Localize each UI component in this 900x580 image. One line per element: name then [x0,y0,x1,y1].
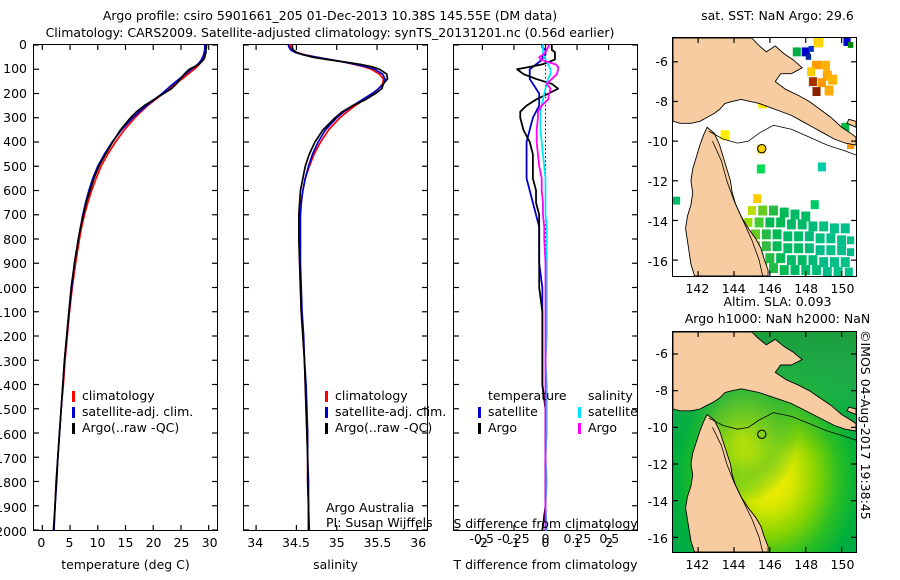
legend-color-swatch [325,423,328,434]
map-latitude-label: -6 [640,346,668,361]
page-title-line1: Argo profile: csiro 5901661_205 01-Dec-2… [0,8,660,23]
depth-tick-label: 600 [3,183,27,198]
depth-axis-labels: 0100200300400500600700800900100011001200… [0,44,33,531]
salinity-legend: climatologysatellite-adj. clim.Argo(..ra… [325,388,446,436]
difference-salinity-legend-item: Argo [578,420,638,436]
salinity-profile-plot [244,45,427,530]
map-longitude-label: 142 [685,557,709,572]
depth-tick-label: 1700 [0,451,27,466]
map-longitude-label: 150 [831,557,855,572]
temperature-difference-tick-label: -2 [475,535,487,550]
temperature-legend-item: Argo(..raw -QC) [72,420,193,436]
sla-map[interactable] [672,331,857,553]
legend-color-swatch [72,407,75,418]
salinity-tick-label: 35.5 [364,535,392,550]
legend-label: satellite-adj. clim. [82,404,193,420]
depth-tick-label: 2000 [0,524,27,539]
temperature-profile-panel [33,44,218,531]
salinity-legend-item: climatology [325,388,446,404]
depth-tick-label: 1000 [0,281,27,296]
depth-tick-label: 1900 [0,500,27,515]
depth-tick-label: 1600 [0,427,27,442]
depth-tick-label: 300 [3,110,27,125]
salinity-legend-item: satellite-adj. clim. [325,404,446,420]
temperature-tick-label: 30 [202,535,218,550]
salinity-axis-label: salinity [313,557,358,572]
map-latitude-label: -6 [640,54,668,69]
difference-temperature-legend-item: satellite [478,404,567,420]
sla-map-title-line1: Altim. SLA: 0.093 [655,294,900,309]
legend-color-swatch [325,391,328,402]
legend-label: Argo(..raw -QC) [335,420,432,436]
salinity-tick-label: 34 [247,535,263,550]
legend-color-swatch [72,391,75,402]
sst-map-title: sat. SST: NaN Argo: 29.6 [655,8,900,23]
map-latitude-label: -16 [640,254,668,269]
depth-tick-label: 700 [3,207,27,222]
legend-label: Argo [588,420,617,436]
map-longitude-label: 144 [722,557,746,572]
temperature-difference-tick-label: 1 [573,535,581,550]
legend-label: satellite [488,404,538,420]
sst-map-canvas [673,38,856,276]
legend-label: satellite-adj. clim. [335,404,446,420]
salinity-difference-axis-label: S difference from climatology [453,516,637,531]
sla-map-title-line2: Argo h1000: NaN h2000: NaN [655,311,900,326]
legend-color-swatch [478,407,481,418]
map-latitude-label: -8 [640,94,668,109]
depth-tick-label: 0 [19,37,27,52]
difference-temperature-legend: temperaturesatelliteArgo [478,388,567,436]
depth-tick-label: 1100 [0,305,27,320]
map-longitude-label: 146 [758,557,782,572]
legend-color-swatch [325,407,328,418]
depth-tick-label: 500 [3,159,27,174]
map-latitude-label: -16 [640,531,668,546]
temperature-difference-tick-label: 2 [605,535,613,550]
legend-label: Argo [488,420,517,436]
legend-color-swatch [72,423,75,434]
difference-salinity-legend: salinitysatelliteArgo [578,388,638,436]
map-latitude-label: -12 [640,174,668,189]
depth-tick-label: 1800 [0,475,27,490]
temperature-legend-item: climatology [72,388,193,404]
temperature-tick-label: 10 [90,535,106,550]
temperature-profile-plot [34,45,217,530]
salinity-tick-label: 36 [410,535,426,550]
temperature-difference-tick-label: 0 [542,535,550,550]
difference-salinity-legend-header: salinity [588,388,638,404]
legend-color-swatch [578,407,581,418]
salinity-tick-label: 35 [329,535,345,550]
difference-temperature-legend-item: Argo [478,420,567,436]
map-longitude-label: 148 [794,557,818,572]
provider-line1: Argo Australia [326,500,433,515]
legend-label: climatology [82,388,155,404]
copyright-notice: ©IMOS 04-Aug-2017 19:38:45 [858,330,873,520]
depth-tick-label: 1500 [0,402,27,417]
legend-label: Argo(..raw -QC) [82,420,179,436]
salinity-profile-panel [243,44,428,531]
legend-label: climatology [335,388,408,404]
sla-map-canvas [673,332,856,552]
legend-color-swatch [578,423,581,434]
depth-tick-label: 400 [3,134,27,149]
temperature-tick-label: 15 [118,535,134,550]
map-latitude-label: -12 [640,457,668,472]
temperature-tick-label: 25 [174,535,190,550]
map-latitude-label: -14 [640,494,668,509]
map-latitude-label: -10 [640,420,668,435]
legend-color-swatch [478,423,481,434]
temperature-difference-tick-label: -1 [507,535,519,550]
depth-tick-label: 100 [3,61,27,76]
map-latitude-label: -14 [640,214,668,229]
map-latitude-label: -8 [640,383,668,398]
difference-salinity-legend-item: satellite [578,404,638,420]
sst-map[interactable] [672,37,857,277]
depth-tick-label: 800 [3,232,27,247]
depth-tick-label: 200 [3,86,27,101]
salinity-tick-label: 34.5 [282,535,310,550]
provider-line2: PI: Susan Wijffels [326,515,433,530]
depth-tick-label: 1200 [0,329,27,344]
temperature-legend: climatologysatellite-adj. clim.Argo(..ra… [72,388,193,436]
temperature-axis-label: temperature (deg C) [61,557,190,572]
page-title-line2: Climatology: CARS2009. Satellite-adjuste… [0,25,660,40]
difference-profile-panel [453,44,638,531]
salinity-legend-item: Argo(..raw -QC) [325,420,446,436]
legend-label: satellite [588,404,638,420]
difference-profile-plot [454,45,637,530]
map-latitude-label: -10 [640,134,668,149]
depth-tick-label: 1400 [0,378,27,393]
temperature-legend-item: satellite-adj. clim. [72,404,193,420]
depth-tick-label: 1300 [0,354,27,369]
temperature-tick-label: 0 [37,535,45,550]
temperature-tick-label: 5 [65,535,73,550]
provider-info: Argo Australia PI: Susan Wijffels [326,500,433,530]
depth-tick-label: 900 [3,256,27,271]
temperature-tick-label: 20 [146,535,162,550]
temperature-difference-axis-label: T difference from climatology [453,557,637,572]
difference-temperature-legend-header: temperature [488,388,567,404]
